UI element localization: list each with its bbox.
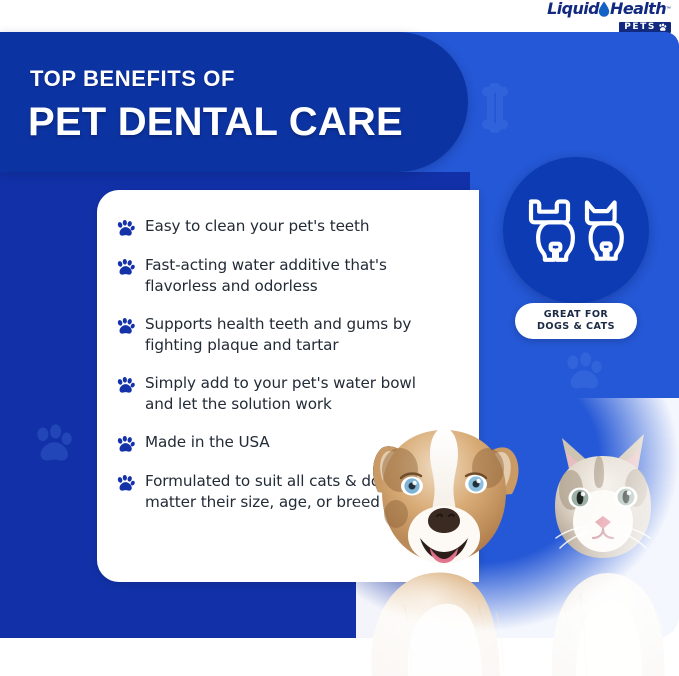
dog-and-cat-outline-icon [521, 191, 631, 269]
list-item-label: Fast-acting water additive that's flavor… [145, 255, 446, 297]
brand-sub-label-text: PETS [624, 23, 656, 32]
page-title: PET DENTAL CARE [28, 100, 403, 145]
paw-print-icon [116, 376, 135, 395]
list-item-label: Easy to clean your pet's teeth [145, 216, 369, 237]
list-item: Fast-acting water additive that's flavor… [116, 255, 446, 297]
great-for-badge: GREAT FOR DOGS & CATS [515, 303, 637, 339]
paw-watermark-icon [30, 422, 76, 466]
trademark-symbol: ™ [666, 7, 671, 12]
australian-shepherd-dog-and-tabby-cat-photo [356, 398, 679, 676]
great-for-badge-line2: DOGS & CATS [537, 321, 615, 333]
dog-cat-badge [503, 157, 649, 303]
water-drop-icon [598, 1, 610, 17]
brand-name-part2: Health [610, 1, 666, 17]
paw-icon [658, 23, 667, 32]
list-item: Easy to clean your pet's teeth [116, 216, 446, 238]
pets-photo [356, 398, 679, 676]
great-for-badge-line1: GREAT FOR [544, 309, 609, 321]
brand-name-part1: Liquid [547, 1, 599, 17]
list-item-label: Supports health teeth and gums by fighti… [145, 314, 446, 356]
brand-logo: Liquid Health ™ PETS [547, 1, 671, 33]
list-item-label: Made in the USA [145, 432, 270, 453]
paw-print-icon [116, 219, 135, 238]
paw-print-icon [116, 474, 135, 493]
header-eyebrow: TOP BENEFITS OF [30, 66, 235, 92]
paw-print-icon [116, 435, 135, 454]
paw-watermark-icon [560, 350, 606, 394]
paw-print-icon [116, 317, 135, 336]
paw-print-icon [116, 258, 135, 277]
brand-logo-wordmark: Liquid Health ™ [547, 1, 671, 17]
infographic-root: Liquid Health ™ PETS [0, 0, 679, 676]
list-item: Supports health teeth and gums by fighti… [116, 314, 446, 356]
bone-watermark-icon [480, 82, 510, 134]
